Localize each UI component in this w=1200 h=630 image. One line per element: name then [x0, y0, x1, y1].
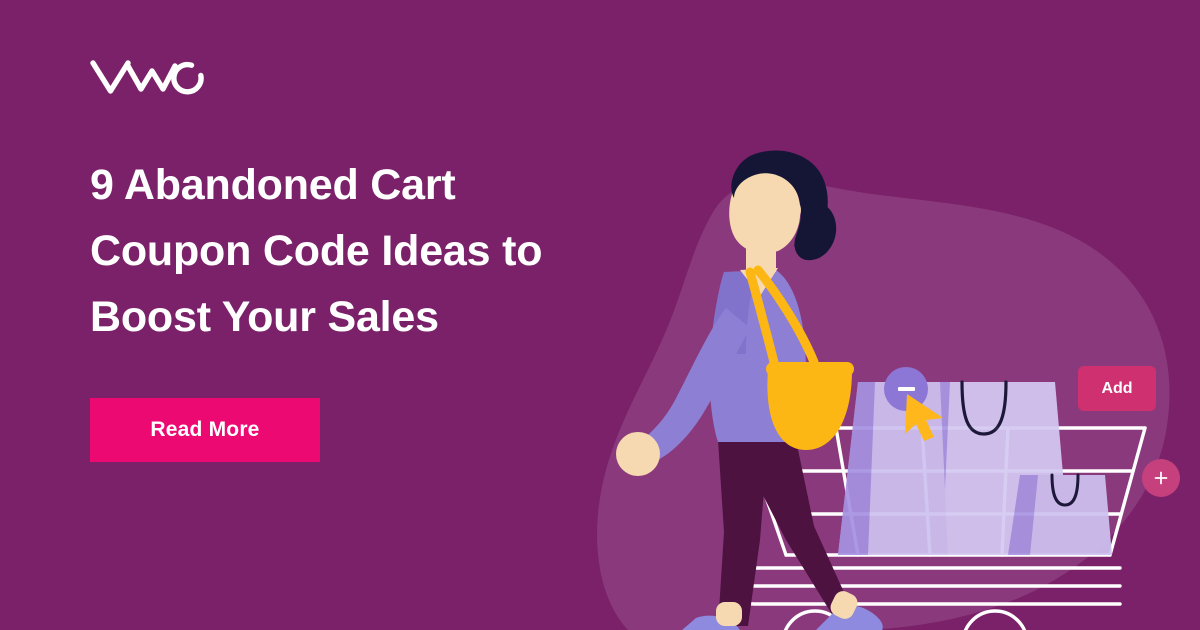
plus-button[interactable]	[1142, 459, 1180, 497]
minus-icon	[898, 387, 915, 391]
vwo-logo[interactable]	[88, 52, 204, 98]
shopping-bags	[838, 382, 1112, 555]
woman-figure	[616, 150, 883, 630]
hand	[616, 432, 660, 476]
read-more-label: Read More	[150, 418, 259, 442]
headline-line-2: Coupon Code Ideas to	[90, 218, 630, 284]
add-button[interactable]: Add	[1078, 366, 1156, 411]
add-button-label: Add	[1101, 380, 1132, 398]
plus-icon	[1148, 459, 1174, 497]
blog-banner: 9 Abandoned Cart Coupon Code Ideas to Bo…	[0, 0, 1200, 630]
headline-line-3: Boost Your Sales	[90, 284, 630, 350]
page-title: 9 Abandoned Cart Coupon Code Ideas to Bo…	[90, 152, 630, 350]
minus-button[interactable]	[884, 367, 928, 411]
read-more-button[interactable]: Read More	[90, 398, 320, 462]
headline-line-1: 9 Abandoned Cart	[90, 152, 630, 218]
